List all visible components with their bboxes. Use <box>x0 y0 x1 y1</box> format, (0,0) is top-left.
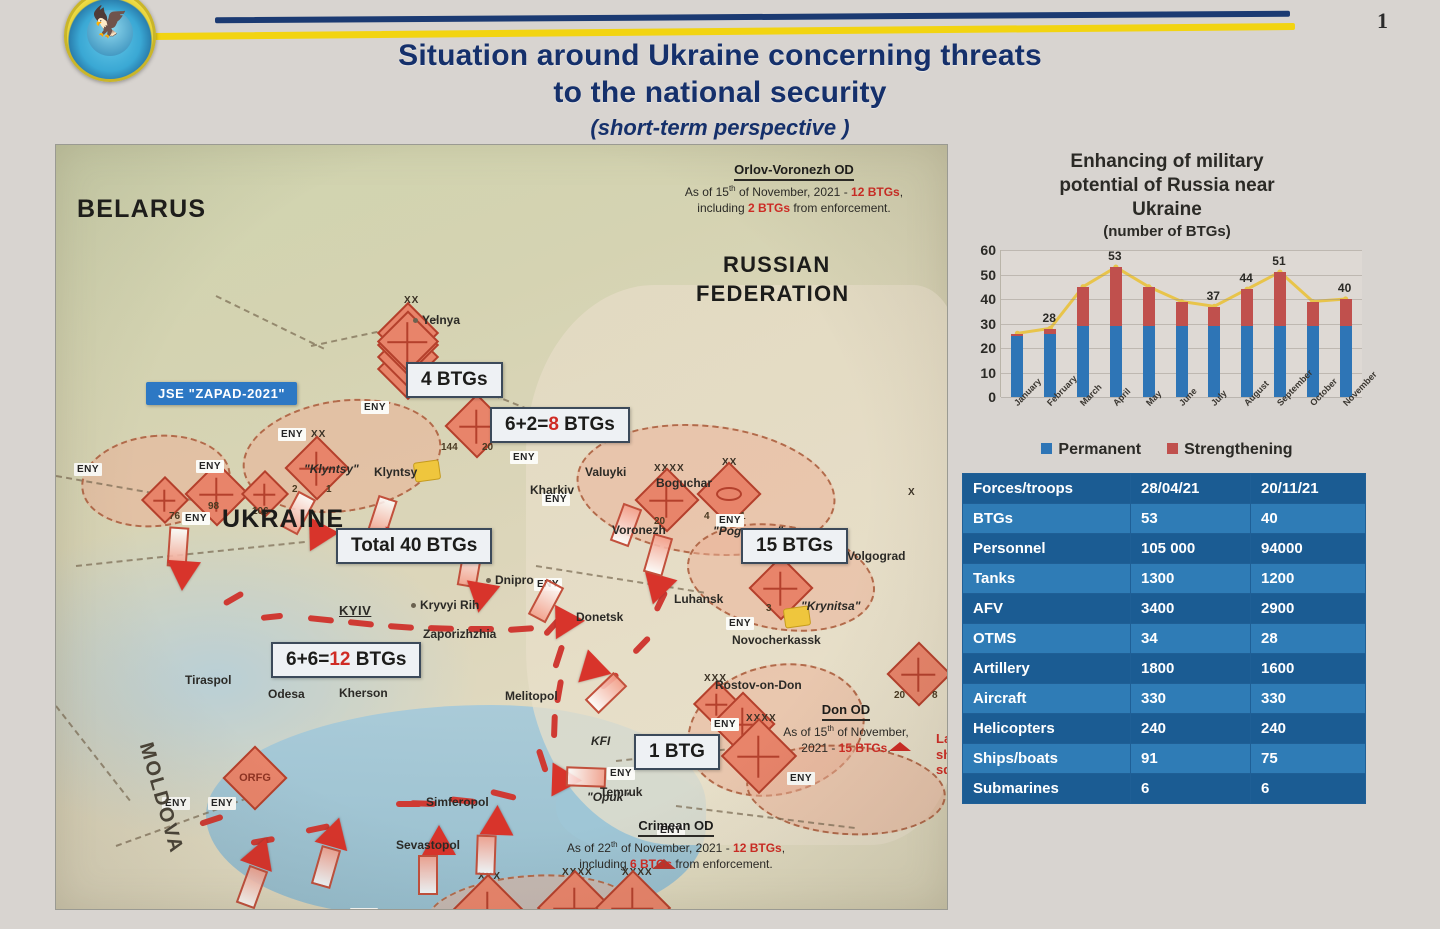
note-title: Don OD <box>822 702 870 721</box>
callout-total-40-btgs[interactable]: Total 40 BTGs <box>336 528 492 564</box>
table-row: Aircraft330330 <box>963 684 1366 714</box>
unit-tag-orfg: ORFG <box>234 757 276 799</box>
chart-legend: Permanent Strengthening <box>962 441 1372 459</box>
unit-number-20: 20 <box>894 690 905 701</box>
chart-bar-strengthening <box>1077 287 1089 326</box>
table-cell-label: Tanks <box>963 564 1131 594</box>
note-orlov-voronezh-od: Orlov-Voronezh OD As of 15th of November… <box>654 161 934 216</box>
chart-bar-strengthening <box>1176 302 1188 327</box>
table-cell-value: 1600 <box>1251 654 1366 684</box>
unit-tag-kfi: KFI <box>591 734 610 748</box>
legend-swatch-permanent <box>1041 443 1052 454</box>
table-cell-value: 28 <box>1251 624 1366 654</box>
axis-arrow-tail <box>418 855 438 895</box>
note-title: Crimean OD <box>638 818 713 837</box>
chart-data-label: 44 <box>1239 271 1252 285</box>
place-label-kryvyi-rih: Kryvyi Rih <box>420 598 479 612</box>
chart-y-tick: 10 <box>962 365 996 381</box>
unit-number-4: 4 <box>704 511 710 522</box>
table-row: Tanks13001200 <box>963 564 1366 594</box>
echelon-marker: XX <box>404 295 419 306</box>
frontline-dash <box>348 619 374 628</box>
table-cell-label: Helicopters <box>963 714 1131 744</box>
chart-bar-permanent <box>1208 326 1220 397</box>
table-cell-value: 1200 <box>1251 564 1366 594</box>
table-cell-label: BTGs <box>963 504 1131 534</box>
page-subtitle: (short-term perspective ) <box>0 115 1440 141</box>
map-dot <box>486 578 491 583</box>
eny-label: ENY <box>361 401 389 414</box>
title-block: Situation around Ukraine concerning thre… <box>0 38 1440 141</box>
chart-data-label: 37 <box>1207 289 1220 303</box>
chart-bar-strengthening <box>1340 299 1352 326</box>
chart-bar-permanent <box>1176 326 1188 397</box>
place-label-kharkiv: Kharkiv <box>530 483 574 497</box>
table-cell-label: AFV <box>963 594 1131 624</box>
frontline-dash <box>396 801 422 807</box>
place-label-opuk: "Opuk" <box>587 790 629 804</box>
chart-bar-strengthening <box>1274 272 1286 326</box>
place-label-boguchar: Boguchar <box>656 476 712 490</box>
border-segment <box>216 295 325 349</box>
chart-bar-permanent <box>1011 336 1023 397</box>
callout-15-btgs[interactable]: 15 BTGs <box>741 528 848 564</box>
place-label-krynitsa: "Krynitsa" <box>801 599 860 613</box>
chart-bar-permanent <box>1274 326 1286 397</box>
table-cell-value: 53 <box>1131 504 1251 534</box>
place-label-dnipro: Dnipro <box>495 573 534 587</box>
table-cell-value: 105 000 <box>1131 534 1251 564</box>
eny-label: ENY <box>711 718 739 731</box>
place-label-odesa: Odesa <box>268 687 305 701</box>
table-row: Artillery18001600 <box>963 654 1366 684</box>
frontline-dash <box>223 590 245 606</box>
table-cell-label: Forces/troops <box>963 474 1131 504</box>
unit-number-3: 3 <box>766 603 772 614</box>
eny-label: ENY <box>787 772 815 785</box>
note-body: As of 15th of November, 2021 - 12 BTGs, … <box>654 184 934 216</box>
frontline-dash <box>261 613 284 621</box>
eny-label: ENY <box>74 463 102 476</box>
unit-number-98: 98 <box>208 501 219 512</box>
table-cell-label: Personnel <box>963 534 1131 564</box>
eny-label: ENY <box>278 428 306 441</box>
chart-subtitle: (number of BTGs) <box>962 223 1372 240</box>
unit-number-8: 8 <box>932 690 938 701</box>
frontline-dash <box>551 714 558 738</box>
map-dot <box>411 603 416 608</box>
table-cell-value: 94000 <box>1251 534 1366 564</box>
country-label-russia-line1: RUSSIAN <box>723 252 830 278</box>
table-cell-value: 1800 <box>1131 654 1251 684</box>
table-header-row: Forces/troops28/04/2120/11/21 <box>963 474 1366 504</box>
table-cell-label: OTMS <box>963 624 1131 654</box>
eny-label: ENY <box>510 451 538 464</box>
table-cell-label: Artillery <box>963 654 1131 684</box>
place-label-luhansk: Luhansk <box>674 592 723 606</box>
note-body: As of 15th of November, 2021 - 15 BTGs. <box>746 724 946 756</box>
chart-gridline <box>1001 250 1362 251</box>
chart-gridline <box>1001 299 1362 300</box>
callout-4-btgs[interactable]: 4 BTGs <box>406 362 503 398</box>
table-cell-value: 75 <box>1251 744 1366 774</box>
unit-number-20: 20 <box>482 442 493 453</box>
page-title-line2: to the national security <box>0 75 1440 112</box>
right-panel: Enhancing of military potential of Russi… <box>962 150 1372 804</box>
eny-label: ENY <box>196 460 224 473</box>
btg-trend-chart[interactable]: 0102030405060January28FebruaryMarch53Apr… <box>962 250 1362 435</box>
chart-data-label: 40 <box>1338 281 1351 295</box>
callout-6-2-8-btgs[interactable]: 6+2=8 BTGs <box>490 407 630 443</box>
callout-6-6-12-btgs[interactable]: 6+6=12 BTGs <box>271 642 421 678</box>
note-title: Orlov-Voronezh OD <box>734 162 854 181</box>
chart-bar-strengthening <box>1044 329 1056 334</box>
eny-label: ENY <box>208 797 236 810</box>
place-label-simferopol: Simferopol <box>426 795 489 809</box>
chart-bar-strengthening <box>1241 289 1253 326</box>
chart-bar-strengthening <box>1307 302 1319 327</box>
chart-bar-permanent <box>1143 326 1155 397</box>
table-cell-value: 3400 <box>1131 594 1251 624</box>
eny-label: ENY <box>726 617 754 630</box>
table-body: Forces/troops28/04/2120/11/21BTGs5340Per… <box>963 474 1366 804</box>
chart-y-tick: 0 <box>962 389 996 405</box>
table-cell-value: 240 <box>1131 714 1251 744</box>
frontline-dash <box>388 623 414 631</box>
table-row: Helicopters240240 <box>963 714 1366 744</box>
chart-bar-permanent <box>1241 326 1253 397</box>
chart-y-tick: 30 <box>962 316 996 332</box>
header-stripe-blue <box>215 11 1290 24</box>
table-row: Ships/boats9175 <box>963 744 1366 774</box>
place-label-zaporizhzhia: Zaporizhzhia <box>423 627 496 641</box>
table-cell-label: Submarines <box>963 774 1131 804</box>
table-cell-value: 28/04/21 <box>1131 474 1251 504</box>
page-number: 1 <box>1377 8 1388 34</box>
chart-bar-strengthening <box>1143 287 1155 326</box>
table-cell-value: 2900 <box>1251 594 1366 624</box>
table-cell-value: 20/11/21 <box>1251 474 1366 504</box>
chart-bar-permanent <box>1307 326 1319 397</box>
zapad-exercise-badge[interactable]: JSE "ZAPAD-2021" <box>146 382 297 405</box>
place-label-novocherkassk: Novocherkassk <box>732 633 821 647</box>
place-label-donetsk: Donetsk <box>576 610 623 624</box>
emblem-eagle-icon: 🦅 <box>91 8 128 38</box>
table-cell-value: 330 <box>1131 684 1251 714</box>
place-label-valuyki: Valuyki <box>585 465 626 479</box>
eny-label: ENY <box>182 512 210 525</box>
legend-item-strengthening: Strengthening <box>1167 441 1292 459</box>
table-cell-value: 240 <box>1251 714 1366 744</box>
frontline-dash <box>308 615 334 624</box>
chart-bar-strengthening <box>1011 334 1023 336</box>
callout-1-btg[interactable]: 1 BTG <box>634 734 720 770</box>
unit-number-1: 1 <box>326 484 332 495</box>
chart-data-label: 51 <box>1272 254 1285 268</box>
unit-number-76: 76 <box>169 511 180 522</box>
table-row: AFV34002900 <box>963 594 1366 624</box>
unit-number-144: 144 <box>441 442 458 453</box>
chart-bar-strengthening <box>1110 267 1122 326</box>
place-label-tiraspol: Tiraspol <box>185 673 231 687</box>
chart-title: Enhancing of military potential of Russi… <box>962 150 1372 221</box>
place-label-klyntsy-quoted: "Klyntsy" <box>304 462 359 476</box>
echelon-marker: X <box>908 487 916 498</box>
place-label-voronezh: Voronezh <box>612 523 666 537</box>
page-title-line1: Situation around Ukraine concerning thre… <box>0 38 1440 75</box>
table-row: BTGs5340 <box>963 504 1366 534</box>
chart-gridline <box>1001 275 1362 276</box>
table-cell-value: 91 <box>1131 744 1251 774</box>
chart-bar-permanent <box>1077 326 1089 397</box>
table-row: OTMS3428 <box>963 624 1366 654</box>
chart-bar-strengthening <box>1208 307 1220 327</box>
slide-header: 🦅 1 Situation around Ukraine concerning … <box>0 0 1440 145</box>
place-label-klyntsy: Klyntsy <box>374 465 417 479</box>
country-label-russia-line2: FEDERATION <box>696 281 849 307</box>
table-cell-value: 330 <box>1251 684 1366 714</box>
table-cell-label: Aircraft <box>963 684 1131 714</box>
chart-data-label: 53 <box>1108 249 1121 263</box>
chart-bar-permanent <box>1110 326 1122 397</box>
note-body: As of 22th of November, 2021 - 12 BTGs, … <box>526 840 826 872</box>
note-don-od: Don OD As of 15th of November, 2021 - 15… <box>746 701 946 756</box>
axis-arrow-head <box>479 804 514 835</box>
chart-y-tick: 20 <box>962 340 996 356</box>
legend-swatch-strengthening <box>1167 443 1178 454</box>
place-label-kherson: Kherson <box>339 686 388 700</box>
eny-label: ENY <box>607 767 635 780</box>
forces-comparison-table[interactable]: Forces/troops28/04/2120/11/21BTGs5340Per… <box>962 473 1366 804</box>
chart-y-tick: 40 <box>962 291 996 307</box>
map-dot <box>413 318 418 323</box>
chart-y-tick: 60 <box>962 242 996 258</box>
legend-item-permanent: Permanent <box>1041 441 1141 459</box>
axis-arrow-tail <box>475 835 496 876</box>
table-cell-label: Ships/boats <box>963 744 1131 774</box>
axis-arrow-head <box>165 560 201 592</box>
table-cell-value: 40 <box>1251 504 1366 534</box>
table-row: Submarines66 <box>963 774 1366 804</box>
table-cell-value: 1300 <box>1131 564 1251 594</box>
place-label-yelnya: Yelnya <box>422 313 460 327</box>
place-label-volgograd: Volgograd <box>847 549 905 563</box>
table-row: Personnel105 00094000 <box>963 534 1366 564</box>
city-label-kyiv: KYIV <box>339 603 371 618</box>
table-cell-value: 6 <box>1131 774 1251 804</box>
chart-data-label: 28 <box>1043 311 1056 325</box>
note-crimean-od: Crimean OD As of 22th of November, 2021 … <box>526 817 826 872</box>
table-cell-value: 6 <box>1251 774 1366 804</box>
situation-map[interactable]: CMD XX XX 144 20 76 98 106 XX 2 1 XXXX 2… <box>55 144 948 910</box>
country-label-ukraine: UKRAINE <box>222 505 344 534</box>
table-cell-value: 34 <box>1131 624 1251 654</box>
eny-label: ENY <box>350 908 378 910</box>
border-segment <box>55 705 130 801</box>
country-label-belarus: BELARUS <box>77 195 206 224</box>
place-label-sevastopol: Sevastopol <box>396 838 460 852</box>
chart-bar-permanent <box>1340 326 1352 397</box>
chart-y-tick: 50 <box>962 267 996 283</box>
place-label-rostov-on-don: Rostov-on-Don <box>715 678 802 692</box>
place-label-melitopol: Melitopol <box>505 689 558 703</box>
chart-bar-permanent <box>1044 334 1056 398</box>
